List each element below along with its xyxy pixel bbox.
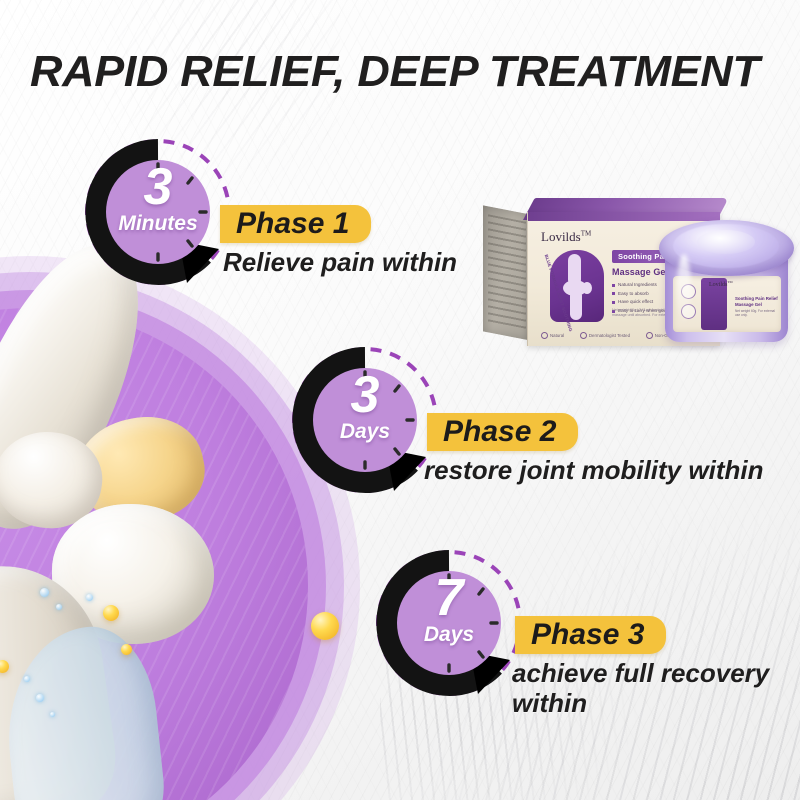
phase-1-duration-unit: Minutes (83, 213, 233, 235)
box-footer-icon-label: Natural (550, 333, 564, 338)
phase-2-duration-unit: Days (290, 421, 440, 443)
poster-canvas: RAPID RELIEF, DEEP TREATMENT 3 Minutes (0, 0, 800, 800)
product-group: LovildsTM BLUE FORMULA JOINT SOOTHING So… (483, 196, 800, 354)
fluid-bubble (86, 594, 93, 601)
jar-title: Soothing Pain Relief Massage Gel (735, 296, 778, 308)
box-footer-icon-natural: Natural (541, 332, 564, 339)
knee-joint-illustration (0, 236, 290, 800)
phase-1-duration-number: 3 (83, 161, 233, 213)
phase-3-description: achieve full recovery within (512, 658, 800, 718)
product-box-side-text-lines (488, 214, 526, 329)
phase-2-ribbon: Phase 2 (427, 413, 578, 451)
phase-1-clock-badge: 3 Minutes (83, 137, 233, 287)
page-title: RAPID RELIEF, DEEP TREATMENT (30, 49, 760, 95)
product-jar: LovildsTM Soothing Pain Relief Massage G… (659, 220, 794, 348)
phase-3-ribbon: Phase 3 (515, 616, 666, 654)
phase-3-clock-badge: 7 Days (374, 548, 524, 698)
phase-3-label: Phase 3 (531, 620, 644, 650)
particle-orb (103, 605, 119, 621)
leaf-icon (541, 332, 548, 339)
phase-3-duration-number: 7 (374, 572, 524, 624)
jar-gloss-highlight (677, 254, 691, 324)
bullet-marker-icon (612, 284, 615, 287)
bullet-marker-icon (612, 292, 615, 295)
phase-1-ribbon: Phase 1 (220, 205, 371, 243)
fluid-bubble (40, 588, 49, 597)
jar-trademark: TM (727, 280, 732, 284)
box-footer-icon-label: Dermatologist Tested (589, 333, 630, 338)
jar-fine-print: Net weight 60g. For external use only. (735, 309, 777, 317)
particle-orb (121, 644, 132, 655)
check-icon (646, 332, 653, 339)
phase-2-duration-number: 3 (290, 369, 440, 421)
box-trademark: TM (581, 230, 592, 238)
fluid-bubble (36, 694, 44, 702)
fluid-bubble (56, 604, 62, 610)
fluid-bubble (50, 712, 55, 717)
phase-1-label: Phase 1 (236, 209, 349, 239)
phase-2-label: Phase 2 (443, 417, 556, 447)
jar-title-line2: Massage Gel (735, 302, 778, 308)
phase-2-description: restore joint mobility within (424, 455, 763, 485)
box-bullet-text: Easy to absorb (618, 291, 649, 298)
box-bullet-text: Have quick effect (618, 299, 653, 306)
phase-3-duration-unit: Days (374, 624, 524, 646)
phase-1-description: Relieve pain within (223, 247, 457, 277)
box-bullet-text: Natural Ingredients (618, 282, 657, 289)
box-arc-tagline: BLUE FORMULA JOINT SOOTHING (544, 246, 610, 312)
box-brand-text: Lovilds (541, 229, 581, 244)
jar-brand-text: Lovilds (709, 282, 727, 288)
shield-icon (580, 332, 587, 339)
jar-gel-highlight (697, 230, 755, 254)
particle-orb (311, 612, 339, 640)
box-footer-icon-dermatologist: Dermatologist Tested (580, 332, 630, 339)
phase-2-clock-badge: 3 Days (290, 345, 440, 495)
box-brand-name: LovildsTM (541, 229, 591, 245)
jar-brand-name: LovildsTM (709, 280, 733, 288)
bullet-marker-icon (612, 301, 615, 304)
fluid-bubble (24, 676, 30, 682)
